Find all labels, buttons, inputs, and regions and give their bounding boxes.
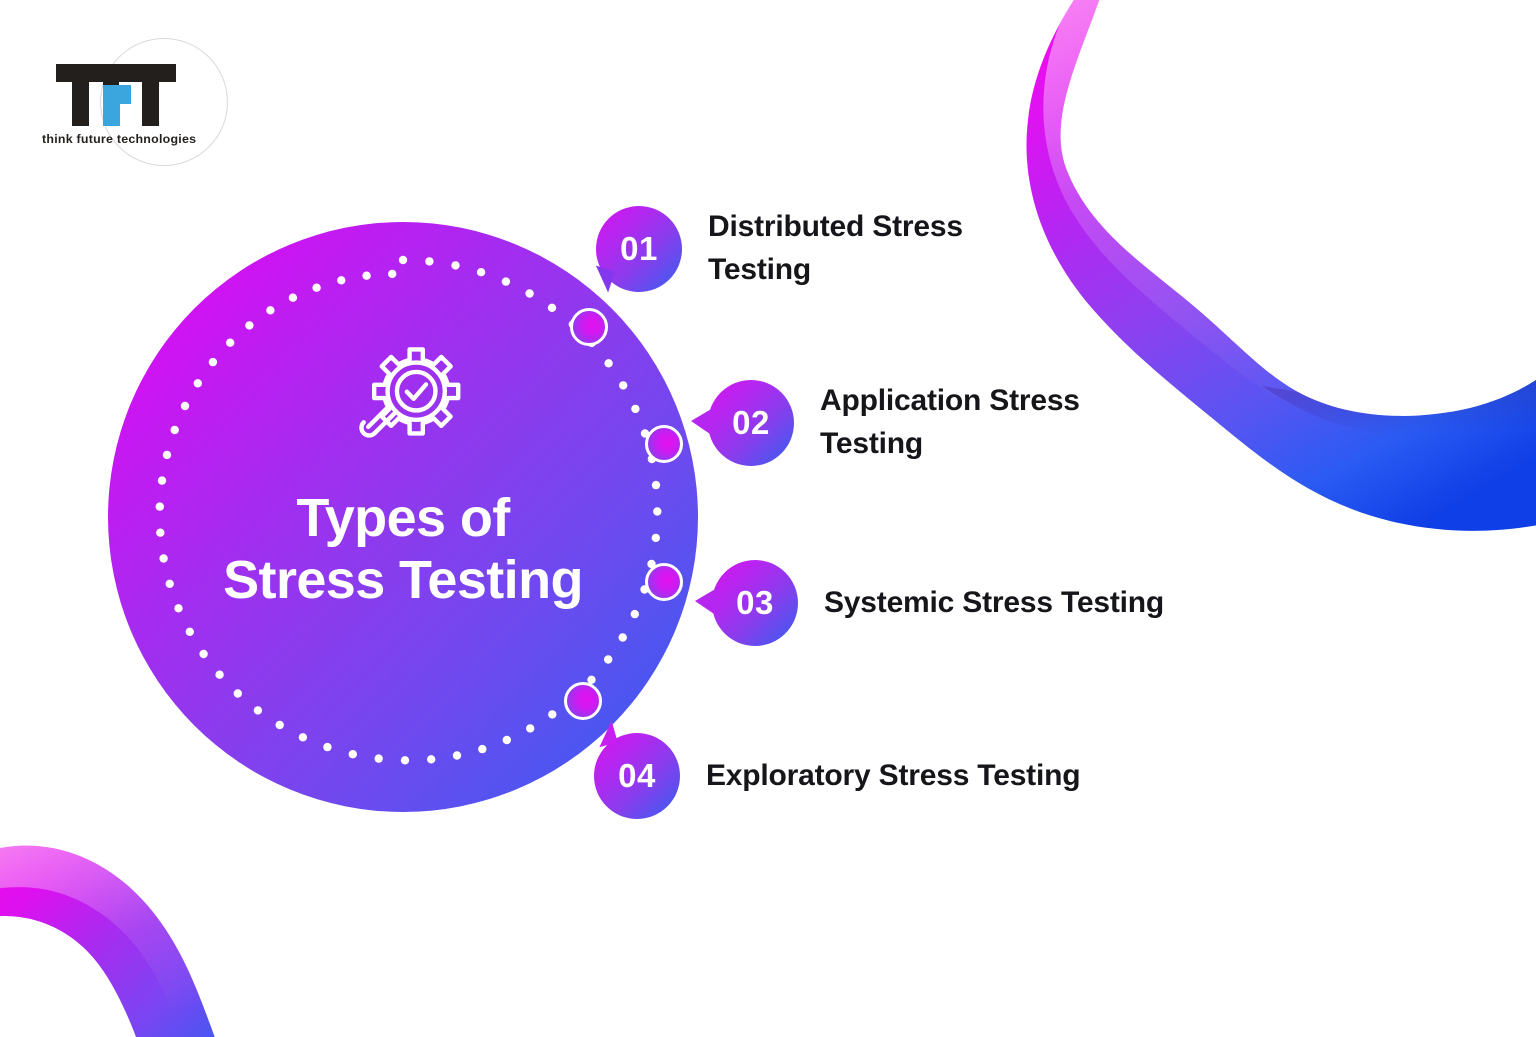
ribbon-top-right-shape bbox=[1026, 0, 1536, 531]
item-label-03: Systemic Stress Testing bbox=[824, 582, 1164, 625]
item-label-02-line-1: Application Stress bbox=[820, 380, 1080, 423]
list-item-01[interactable]: 01 Distributed Stress Testing bbox=[596, 206, 963, 292]
badge-number-03: 03 bbox=[712, 560, 798, 646]
item-label-04-line-1: Exploratory Stress Testing bbox=[706, 755, 1080, 798]
list-item-04[interactable]: 04 Exploratory Stress Testing bbox=[594, 733, 1080, 819]
gear-magnifier-check-icon bbox=[337, 334, 469, 466]
ribbon-bottom-left-shape bbox=[0, 846, 230, 1037]
badge-tail-icon bbox=[695, 588, 717, 616]
item-label-01-line-2: Testing bbox=[708, 249, 963, 292]
logo-tft-mark bbox=[56, 64, 176, 126]
badge-number-01: 01 bbox=[596, 206, 682, 292]
item-label-01: Distributed Stress Testing bbox=[708, 206, 963, 291]
edge-marker-1 bbox=[570, 308, 608, 346]
badge-label-04: 04 bbox=[618, 757, 656, 795]
badge-label-01: 01 bbox=[620, 230, 658, 268]
edge-marker-4 bbox=[564, 682, 602, 720]
hub-title: Types of Stress Testing bbox=[143, 488, 663, 611]
brand-logo: think future technologies bbox=[42, 36, 232, 176]
badge-label-03: 03 bbox=[736, 584, 774, 622]
hub-title-line-1: Types of bbox=[143, 488, 663, 550]
item-label-04: Exploratory Stress Testing bbox=[706, 755, 1080, 798]
item-label-03-line-1: Systemic Stress Testing bbox=[824, 582, 1164, 625]
edge-marker-3 bbox=[645, 563, 683, 601]
item-label-01-line-1: Distributed Stress bbox=[708, 206, 963, 249]
hub-title-line-2: Stress Testing bbox=[143, 550, 663, 612]
edge-marker-2 bbox=[645, 425, 683, 463]
badge-number-02: 02 bbox=[708, 380, 794, 466]
list-item-02[interactable]: 02 Application Stress Testing bbox=[708, 380, 1080, 466]
item-label-02-line-2: Testing bbox=[820, 423, 1080, 466]
badge-label-02: 02 bbox=[732, 404, 770, 442]
badge-tail-icon bbox=[691, 408, 713, 436]
list-item-03[interactable]: 03 Systemic Stress Testing bbox=[712, 560, 1164, 646]
item-label-02: Application Stress Testing bbox=[820, 380, 1080, 465]
badge-number-04: 04 bbox=[594, 733, 680, 819]
infographic-canvas: think future technologies bbox=[0, 0, 1536, 1037]
ribbon-notch bbox=[1195, 0, 1536, 334]
logo-tagline: think future technologies bbox=[42, 132, 232, 146]
